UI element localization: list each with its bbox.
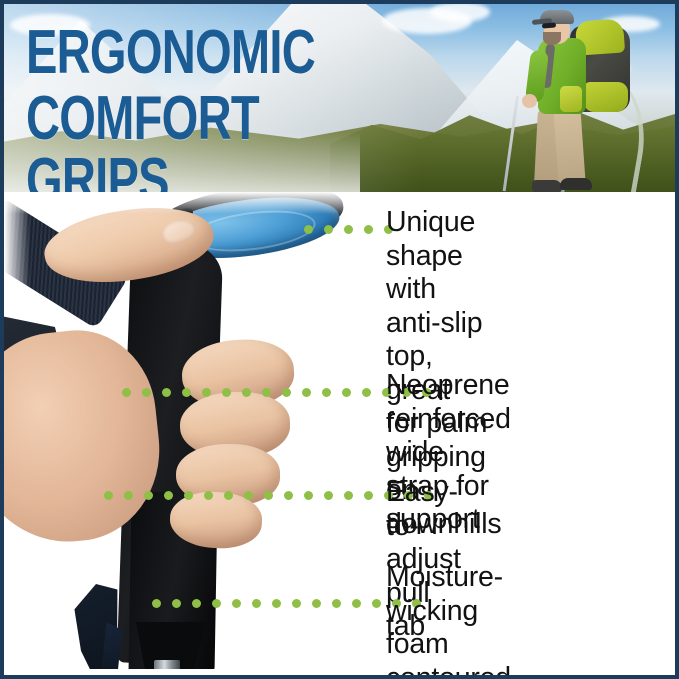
hiker-leg-right xyxy=(553,107,585,185)
leader-dot xyxy=(192,599,201,608)
callout-list: Unique shape with anti-slip top, great f… xyxy=(4,192,679,679)
hiker-backpack-bottom xyxy=(584,82,628,112)
leader-dot xyxy=(164,491,173,500)
hiker-backpack-pocket xyxy=(560,86,582,112)
leader-dot xyxy=(252,599,261,608)
trekking-pole-icon xyxy=(503,96,519,191)
hiker-beard xyxy=(543,32,561,45)
leader-dot xyxy=(302,388,311,397)
leader-dot xyxy=(142,388,151,397)
leader-dot xyxy=(104,491,113,500)
leader-dot xyxy=(124,491,133,500)
leader-dot xyxy=(282,388,291,397)
leader-dot xyxy=(264,491,273,500)
leader-dot xyxy=(272,599,281,608)
leader-dot xyxy=(342,388,351,397)
leader-dot xyxy=(364,225,373,234)
hiker-boot-right xyxy=(560,178,592,190)
callout-text: Moisture-wicking foam contoured comfort … xyxy=(386,561,511,679)
leader-dot xyxy=(224,491,233,500)
product-feature-graphic: ERGONOMIC COMFORT GRIPS Unique shape xyxy=(0,0,679,679)
leader-dot xyxy=(324,491,333,500)
leader-dot xyxy=(312,599,321,608)
leader-dot xyxy=(122,388,131,397)
leader-dot xyxy=(322,388,331,397)
headline-line-1: ERGONOMIC xyxy=(26,24,345,82)
leader-dot xyxy=(324,225,333,234)
headline-line-2: COMFORT GRIPS xyxy=(26,88,345,192)
hiker-hand xyxy=(522,94,537,108)
leader-dot xyxy=(162,388,171,397)
leader-dot xyxy=(232,599,241,608)
leader-dot xyxy=(304,491,313,500)
leader-dot xyxy=(344,491,353,500)
leader-dot xyxy=(372,599,381,608)
leader-dot xyxy=(344,225,353,234)
leader-dot xyxy=(262,388,271,397)
leader-dot xyxy=(144,491,153,500)
cloud-icon xyxy=(430,2,490,22)
hiker-boot-left xyxy=(532,180,562,192)
leader-dot xyxy=(202,388,211,397)
leader-dot xyxy=(292,599,301,608)
leader-dot xyxy=(304,225,313,234)
hiker-illustration xyxy=(498,4,678,192)
leader-dot xyxy=(212,599,221,608)
leader-dot xyxy=(184,491,193,500)
leader-dot xyxy=(244,491,253,500)
leader-dot xyxy=(332,599,341,608)
leader-dot xyxy=(364,491,373,500)
leader-dot xyxy=(242,388,251,397)
leader-dot xyxy=(152,599,161,608)
header-banner: ERGONOMIC COMFORT GRIPS xyxy=(0,0,679,192)
leader-dot xyxy=(182,388,191,397)
leader-dot xyxy=(172,599,181,608)
leader-dot xyxy=(204,491,213,500)
leader-dot xyxy=(222,388,231,397)
leader-dot xyxy=(362,388,371,397)
leader-dot xyxy=(284,491,293,500)
leader-dot xyxy=(352,599,361,608)
